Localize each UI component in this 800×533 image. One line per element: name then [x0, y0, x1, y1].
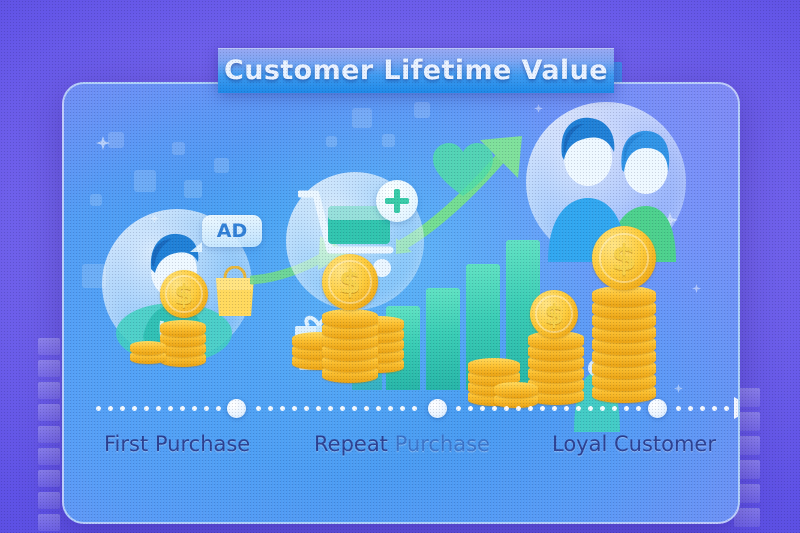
- coin-dollar-symbol: $: [160, 270, 208, 318]
- timeline-arrow-icon: [734, 397, 740, 419]
- floating-square: [326, 136, 337, 147]
- floating-square: [172, 142, 185, 155]
- plus-badge-icon: [376, 180, 418, 222]
- floating-square: [352, 108, 372, 128]
- floating-square: [184, 180, 202, 198]
- coin-dollar-symbol: $: [592, 226, 656, 290]
- stage-labels: First Purchase Repeat Purchase Loyal Cus…: [92, 432, 712, 466]
- page-title: Customer Lifetime Value: [224, 55, 608, 86]
- title-banner: Customer Lifetime Value: [218, 48, 614, 93]
- infographic-canvas: AD $: [0, 0, 800, 533]
- heart-icon: [432, 142, 494, 198]
- label-first-purchase: First Purchase: [104, 432, 250, 456]
- label-repeat-purchase: Repeat Purchase: [314, 432, 490, 456]
- floating-square: [134, 170, 156, 192]
- label-repeat-word: Repeat: [314, 432, 388, 456]
- floating-square: [108, 132, 124, 148]
- ad-badge-label: AD: [217, 220, 247, 242]
- timeline-node-loyal-customer[interactable]: [648, 399, 667, 418]
- timeline: [92, 400, 712, 418]
- floating-square: [414, 102, 430, 118]
- timeline-node-first-purchase[interactable]: [227, 399, 246, 418]
- timeline-node-repeat-purchase[interactable]: [428, 399, 447, 418]
- coin-dollar-symbol: $: [530, 290, 578, 338]
- label-loyal-customer: Loyal Customer: [552, 432, 716, 456]
- coin-dollar-symbol: $: [322, 254, 378, 310]
- illustration-panel: AD $: [62, 82, 740, 524]
- floating-square: [214, 158, 229, 173]
- left-tick-decoration: [38, 0, 64, 533]
- floating-square: [90, 194, 102, 206]
- floating-square: [382, 134, 395, 147]
- label-purchase-word: Purchase: [395, 432, 490, 456]
